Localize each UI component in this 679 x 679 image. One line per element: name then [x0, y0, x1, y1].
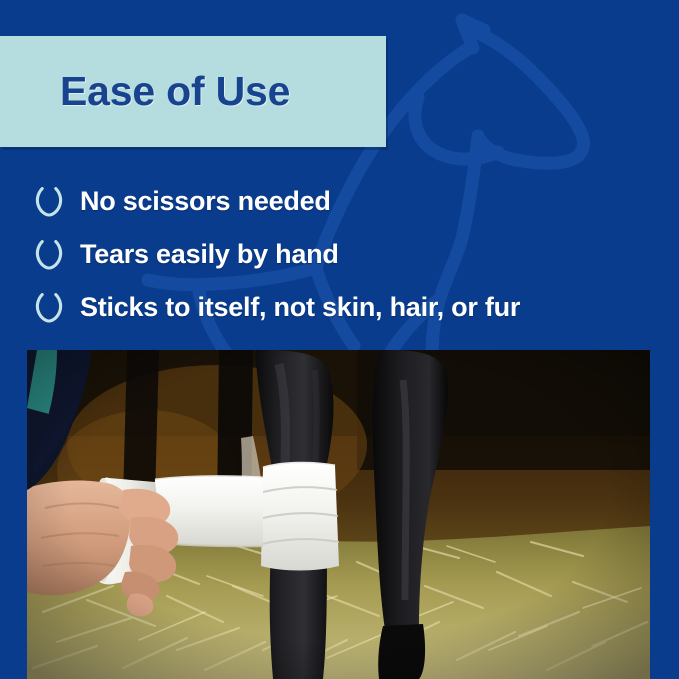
page-title: Ease of Use — [60, 71, 290, 112]
list-item: No scissors needed — [30, 175, 670, 228]
list-item-label: No scissors needed — [80, 186, 331, 217]
horseshoe-icon — [30, 186, 68, 218]
title-band: Ease of Use — [0, 36, 386, 147]
list-item: Sticks to itself, not skin, hair, or fur — [30, 281, 670, 334]
list-item-label: Sticks to itself, not skin, hair, or fur — [80, 292, 520, 323]
list-item: Tears easily by hand — [30, 228, 670, 281]
list-item-label: Tears easily by hand — [80, 239, 339, 270]
horseshoe-icon — [30, 239, 68, 271]
feature-list: No scissors needed Tears easily by hand — [30, 175, 670, 334]
horse-leg-bandaging-photo — [27, 350, 650, 679]
horseshoe-icon — [30, 292, 68, 324]
promo-card: Ease of Use No scissors needed — [0, 0, 679, 679]
